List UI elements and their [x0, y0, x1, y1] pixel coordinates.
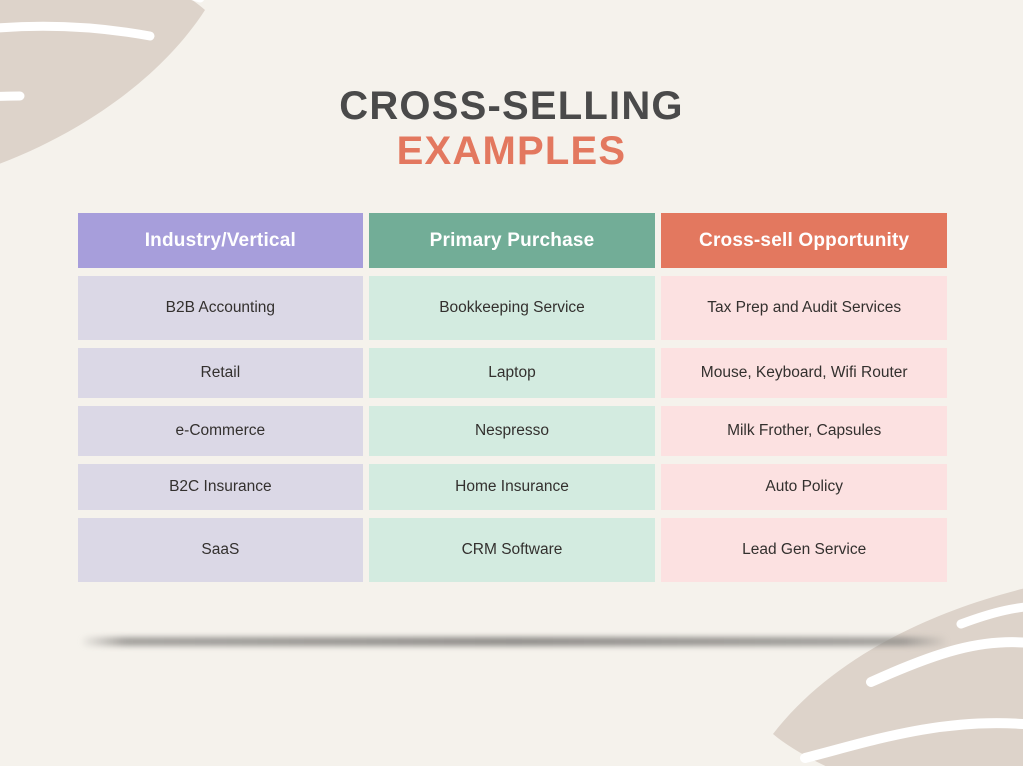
cell-industry: B2C Insurance — [78, 464, 363, 510]
cell-primary-purchase: Home Insurance — [369, 464, 656, 510]
cell-primary-purchase: Laptop — [369, 348, 656, 398]
table-row: e-Commerce Nespresso Milk Frother, Capsu… — [78, 406, 947, 456]
page-title: CROSS-SELLING EXAMPLES — [0, 84, 1023, 174]
cell-industry: e-Commerce — [78, 406, 363, 456]
shadow-divider — [82, 637, 946, 646]
cell-industry: Retail — [78, 348, 363, 398]
table-row: B2B Accounting Bookkeeping Service Tax P… — [78, 276, 947, 340]
column-header-cross-sell: Cross-sell Opportunity — [661, 213, 947, 268]
cell-cross-sell: Lead Gen Service — [661, 518, 947, 582]
table-row: SaaS CRM Software Lead Gen Service — [78, 518, 947, 582]
cell-primary-purchase: Bookkeeping Service — [369, 276, 656, 340]
cell-cross-sell: Auto Policy — [661, 464, 947, 510]
cell-cross-sell: Tax Prep and Audit Services — [661, 276, 947, 340]
table-header-row: Industry/Vertical Primary Purchase Cross… — [78, 213, 947, 268]
cell-industry: B2B Accounting — [78, 276, 363, 340]
title-line-secondary: EXAMPLES — [0, 129, 1023, 174]
slide-canvas: CROSS-SELLING EXAMPLES Industry/Vertical… — [0, 0, 1023, 766]
title-line-primary: CROSS-SELLING — [0, 84, 1023, 129]
column-header-industry: Industry/Vertical — [78, 213, 363, 268]
cell-cross-sell: Mouse, Keyboard, Wifi Router — [661, 348, 947, 398]
cell-primary-purchase: CRM Software — [369, 518, 656, 582]
cell-cross-sell: Milk Frother, Capsules — [661, 406, 947, 456]
cell-primary-purchase: Nespresso — [369, 406, 656, 456]
column-header-primary-purchase: Primary Purchase — [369, 213, 656, 268]
cross-sell-table: Industry/Vertical Primary Purchase Cross… — [78, 213, 947, 590]
table-row: B2C Insurance Home Insurance Auto Policy — [78, 464, 947, 510]
cell-industry: SaaS — [78, 518, 363, 582]
table-row: Retail Laptop Mouse, Keyboard, Wifi Rout… — [78, 348, 947, 398]
